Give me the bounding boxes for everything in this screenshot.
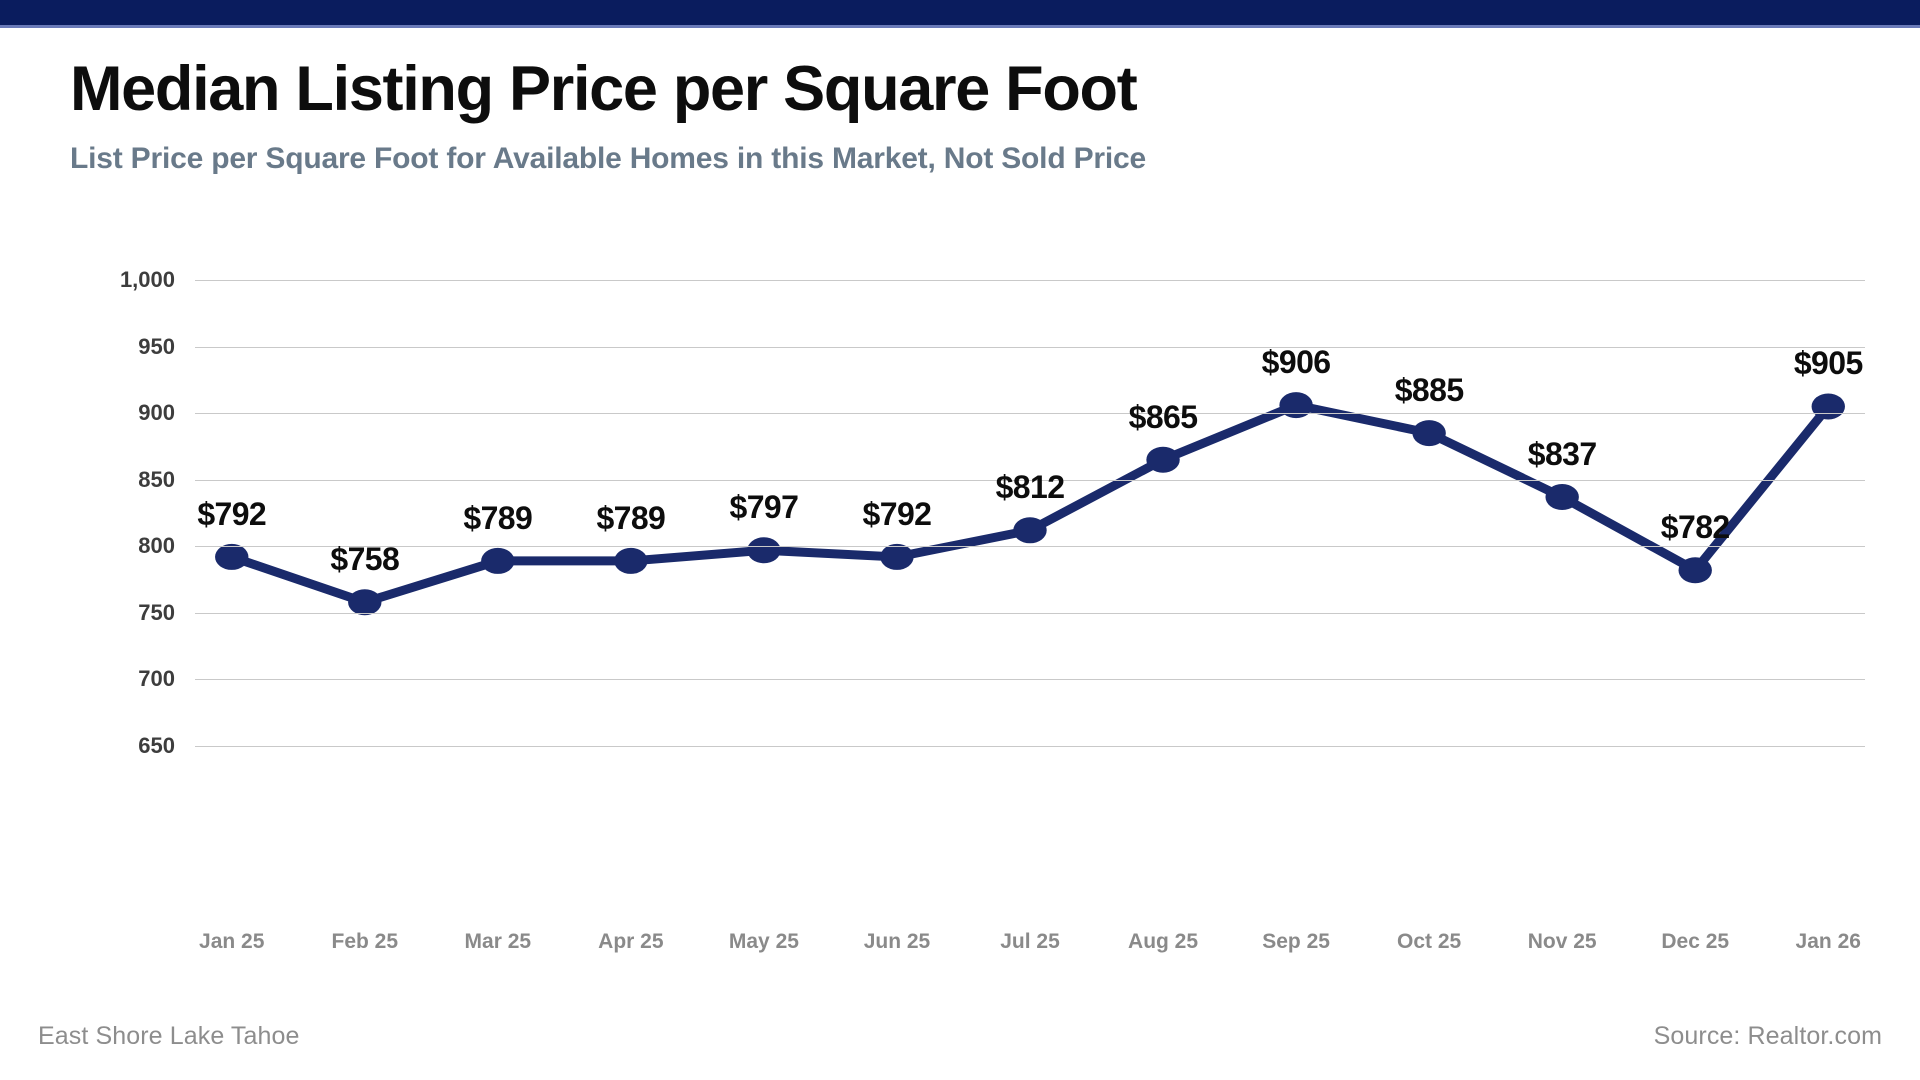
chart-page: Median Listing Price per Square Foot Lis… xyxy=(0,0,1920,1080)
series-line xyxy=(232,405,1829,602)
y-axis-tick-label: 800 xyxy=(0,533,175,559)
chart-plot-area: 1,000950900850800750700650 $792$758$789$… xyxy=(0,258,1920,918)
plot-grid: $792$758$789$789$797$792$812$865$906$885… xyxy=(195,258,1865,918)
x-axis-tick-label: Jan 25 xyxy=(199,930,264,954)
x-axis-tick-label: Apr 25 xyxy=(598,930,663,954)
data-point-marker[interactable] xyxy=(215,544,248,570)
data-point-marker[interactable] xyxy=(1279,392,1312,418)
x-axis-tick-label: Jan 26 xyxy=(1796,930,1861,954)
chart-header: Median Listing Price per Square Foot Lis… xyxy=(70,55,1860,176)
gridline xyxy=(195,546,1865,547)
data-point-marker[interactable] xyxy=(1545,484,1578,510)
data-point-marker[interactable] xyxy=(880,544,913,570)
page-subtitle: List Price per Square Foot for Available… xyxy=(70,142,1860,176)
x-axis-tick-label: Nov 25 xyxy=(1528,930,1597,954)
y-axis-tick-label: 900 xyxy=(0,400,175,426)
gridline xyxy=(195,280,1865,281)
data-point-marker[interactable] xyxy=(747,537,780,563)
y-axis-tick-label: 850 xyxy=(0,467,175,493)
x-axis-tick-label: Dec 25 xyxy=(1661,930,1729,954)
data-point-marker[interactable] xyxy=(1412,420,1445,446)
top-accent-bar xyxy=(0,0,1920,25)
gridline xyxy=(195,480,1865,481)
source-label: Source: Realtor.com xyxy=(1654,1022,1882,1051)
gridline xyxy=(195,413,1865,414)
data-point-marker[interactable] xyxy=(1146,447,1179,473)
data-point-marker[interactable] xyxy=(481,548,514,574)
x-axis-tick-label: Jul 25 xyxy=(1000,930,1060,954)
gridline xyxy=(195,613,1865,614)
data-point-marker[interactable] xyxy=(1013,517,1046,543)
data-point-marker[interactable] xyxy=(1679,557,1712,583)
x-axis-tick-label: Aug 25 xyxy=(1128,930,1198,954)
data-point-marker[interactable] xyxy=(348,589,381,615)
y-axis-tick-label: 950 xyxy=(0,334,175,360)
x-axis-tick-label: Sep 25 xyxy=(1262,930,1330,954)
x-axis-tick-label: May 25 xyxy=(729,930,799,954)
x-axis-tick-label: Mar 25 xyxy=(465,930,532,954)
y-axis-tick-label: 1,000 xyxy=(0,267,175,293)
gridline xyxy=(195,679,1865,680)
x-axis-tick-label: Feb 25 xyxy=(332,930,399,954)
line-series-canvas xyxy=(195,258,1865,918)
gridline xyxy=(195,347,1865,348)
market-label: East Shore Lake Tahoe xyxy=(38,1022,300,1051)
data-point-marker[interactable] xyxy=(1812,393,1845,419)
x-axis-tick-label: Jun 25 xyxy=(864,930,931,954)
x-axis-tick-label: Oct 25 xyxy=(1397,930,1461,954)
x-axis: Jan 25Feb 25Mar 25Apr 25May 25Jun 25Jul … xyxy=(195,930,1865,970)
page-title: Median Listing Price per Square Foot xyxy=(70,55,1860,123)
top-accent-underline xyxy=(0,25,1920,28)
y-axis-tick-label: 650 xyxy=(0,733,175,759)
y-axis: 1,000950900850800750700650 xyxy=(0,258,175,918)
gridline xyxy=(195,746,1865,747)
data-point-marker[interactable] xyxy=(614,548,647,574)
y-axis-tick-label: 750 xyxy=(0,600,175,626)
y-axis-tick-label: 700 xyxy=(0,666,175,692)
